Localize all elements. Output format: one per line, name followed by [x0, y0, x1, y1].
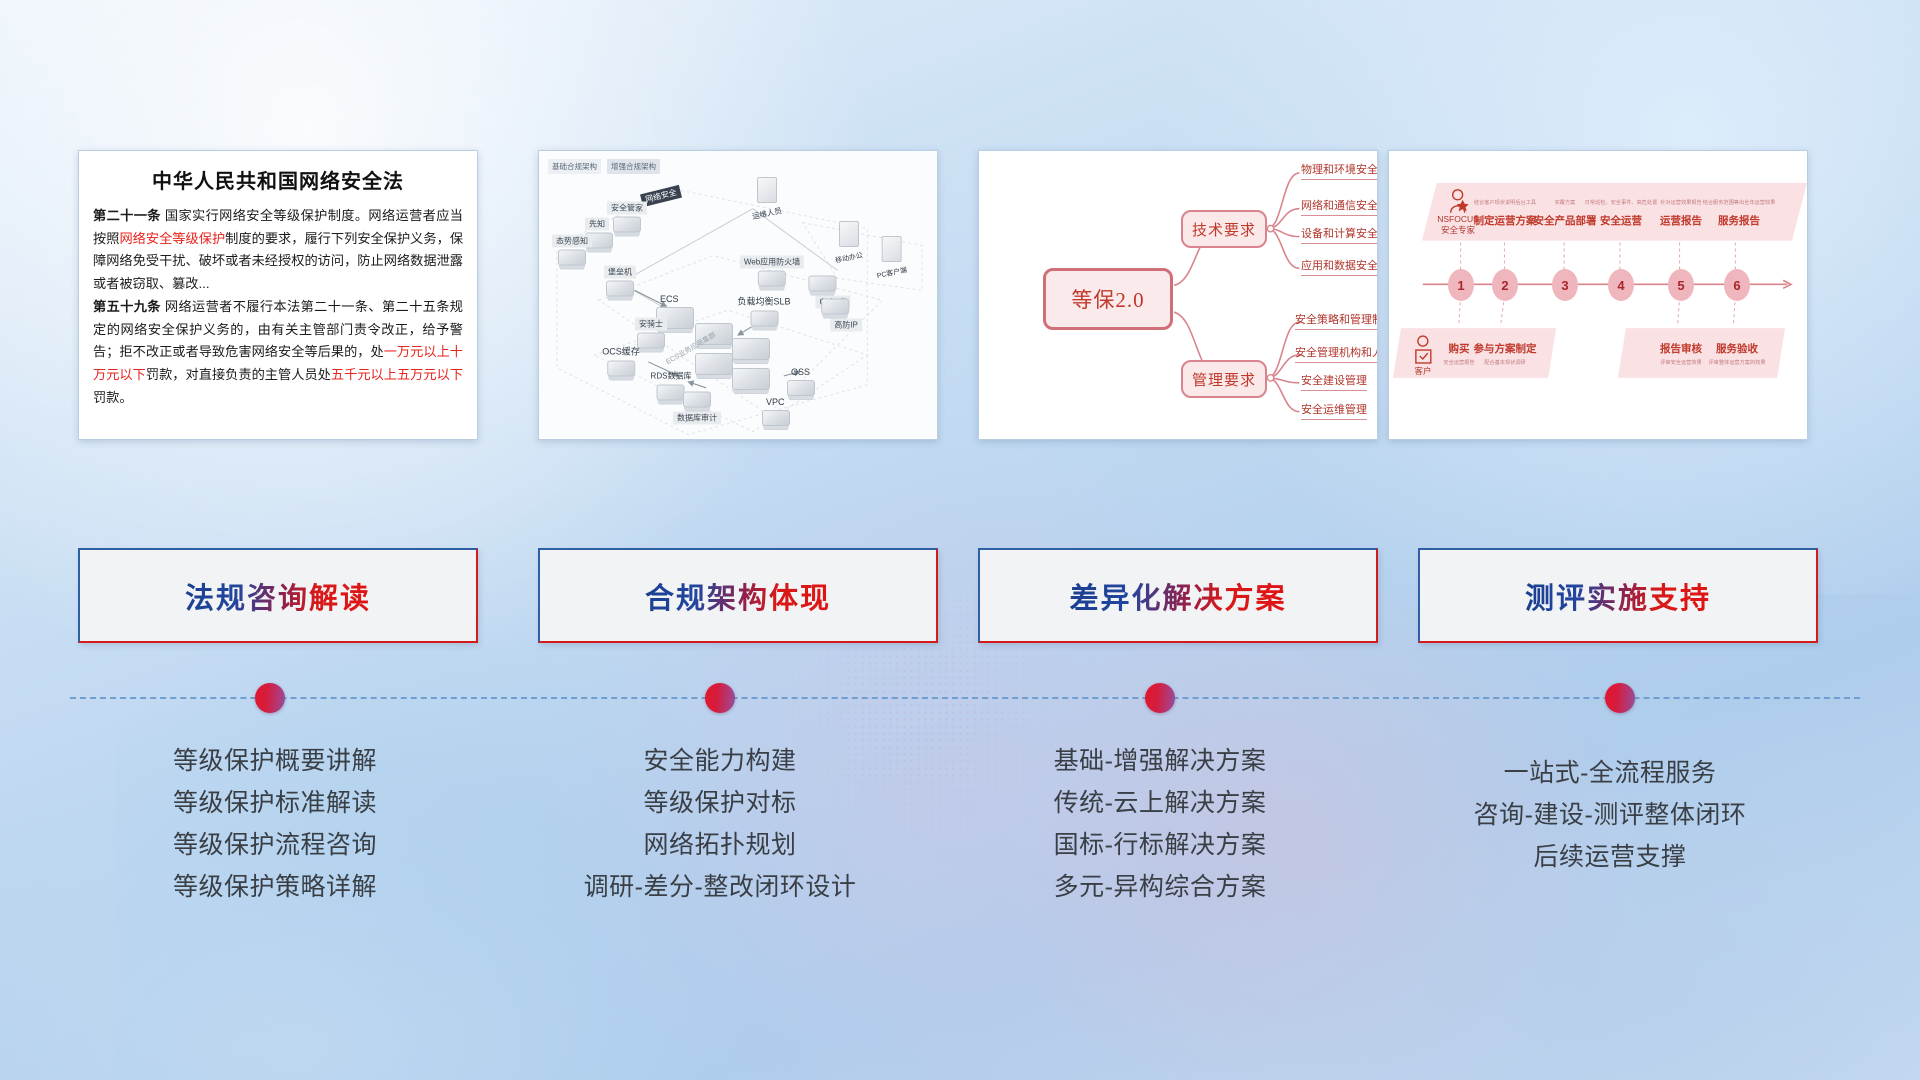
pillar-title-box-4[interactable]: 测评实施支持: [1418, 548, 1818, 643]
mindmap-leaf-ops-mgmt: 安全运维管理: [1301, 401, 1367, 420]
list-item: 等级保护策略详解: [65, 866, 485, 908]
arch-node-pc-client: PC客户端: [873, 236, 912, 280]
mindmap-connectors: [979, 151, 1377, 440]
list-item: 等级保护流程咨询: [65, 824, 485, 866]
nsfocus-step-dot-4: 4: [1608, 269, 1634, 301]
arch-node-anti-ddos-ip: 高防IP: [808, 299, 862, 334]
arch-node-oss: OSS: [787, 362, 815, 396]
arch-node-situational-awareness: 态势感知: [552, 231, 592, 266]
mindmap-leaf-network-comm: 网络和通信安全: [1301, 197, 1378, 216]
list-item: 网络拓扑规划: [510, 824, 930, 866]
list-item: 咨询-建设-测评整体闭环: [1400, 794, 1820, 836]
law-article-21: 第二十一条 国家实行网络安全等级保护制度。网络运营者应当按照网络安全等级保护制度…: [93, 205, 463, 296]
nsfocus-step-6-main: 服务报告: [1718, 213, 1760, 228]
nsfocus-step-dot-6: 6: [1724, 269, 1750, 301]
list-item: 等级保护标准解读: [65, 782, 485, 824]
nsfocus-step-6-sub: 结合服务范围等出全年运营效果: [1703, 199, 1776, 206]
nsfocus-step-5-main: 运营报告: [1660, 213, 1702, 228]
nsfocus-customer-1-main: 购买: [1449, 341, 1470, 356]
list-item: 传统-云上解决方案: [950, 782, 1370, 824]
arch-node-ecs-instance-c: [732, 338, 770, 360]
list-item: 多元-异构综合方案: [950, 866, 1370, 908]
arch-label-ecs-cluster: ECS业务应用集群: [659, 338, 723, 357]
list-item: 基础-增强解决方案: [950, 740, 1370, 782]
pillar-items-3: 基础-增强解决方案 传统-云上解决方案 国标-行标解决方案 多元-异构综合方案: [950, 740, 1370, 908]
arch-node-mobile-office: 移动办公: [831, 221, 867, 265]
nsfocus-step-dot-5: 5: [1668, 269, 1694, 301]
arch-node-network-security: 网络安全: [641, 186, 681, 205]
timeline-dot-2: [705, 683, 735, 713]
arch-node-ops-staff: 运维人员: [748, 177, 786, 221]
timeline-dot-1: [255, 683, 285, 713]
nsfocus-timeline: NSFOCUS 安全专家 客户 结合客户现状说明后台工具 制定运营方案 实覆方案…: [1389, 151, 1807, 439]
mindmap-leaf-construction-mgmt: 安全建设管理: [1301, 372, 1367, 391]
list-item: 调研-差分-整改闭环设计: [510, 866, 930, 908]
arch-node-security-butler: 安全管家: [607, 198, 647, 233]
pillar-title-3: 差异化解决方案: [1069, 575, 1286, 617]
law-title: 中华人民共和国网络安全法: [93, 165, 463, 194]
article-21-label: 第二十一条: [93, 208, 161, 223]
timeline-dashed-line: [70, 697, 1860, 699]
pillar-items-1: 等级保护概要讲解 等级保护标准解读 等级保护流程咨询 等级保护策略详解: [65, 740, 485, 908]
pillar-title-4: 测评实施支持: [1525, 575, 1711, 617]
article-59-highlight-2: 五千元以上五万元以下: [331, 367, 463, 382]
list-item: 等级保护对标: [510, 782, 930, 824]
law-article-59: 第五十九条 网络运营者不履行本法第二十一条、第二十五条规定的网络安全保护义务的，…: [93, 296, 463, 410]
pillar-title-box-3[interactable]: 差异化解决方案: [978, 548, 1378, 643]
card-row: 中华人民共和国网络安全法 第二十一条 国家实行网络安全等级保护制度。网络运营者应…: [0, 150, 1920, 446]
nsfocus-customer-1-sub: 安全运营报告: [1443, 359, 1474, 366]
nsfocus-step-3-sub: 实覆方案: [1555, 199, 1576, 206]
architecture-diagram: 基础合规架构 增强合规架构: [539, 151, 937, 439]
nsfocus-customer-2-sub: 配合基本现状调研: [1484, 359, 1526, 366]
article-59-text-3: 罚款。: [93, 390, 133, 405]
timeline-dot-3: [1145, 683, 1175, 713]
nsfocus-step-dot-1: 1: [1448, 269, 1474, 301]
arch-node-database-audit: 数据库审计: [673, 392, 721, 427]
nsfocus-customer-role: 客户: [1414, 365, 1431, 377]
pillar-items-2: 安全能力构建 等级保护对标 网络拓扑规划 调研-差分-整改闭环设计: [510, 740, 930, 908]
arch-node-slb: 负载均衡SLB: [733, 292, 794, 327]
card-nsfocus-timeline: NSFOCUS 安全专家 客户 结合客户现状说明后台工具 制定运营方案 实覆方案…: [1388, 150, 1808, 440]
article-59-label: 第五十九条: [93, 299, 161, 314]
nsfocus-customer-3-main: 报告审核: [1660, 341, 1702, 356]
mindmap-branch-management: 管理要求: [1181, 360, 1267, 398]
timeline-dot-4: [1605, 683, 1635, 713]
nsfocus-step-5-sub: 针对运营效果报告: [1660, 199, 1702, 206]
nsfocus-step-dot-3: 3: [1552, 269, 1578, 301]
nsfocus-step-2-main: 制定运营方案: [1474, 213, 1537, 228]
nsfocus-step-4-main: 安全运营: [1600, 213, 1642, 228]
nsfocus-step-4-sub: 日常巡检、安全事件、高危处置: [1585, 199, 1658, 206]
pillar-title-box-1[interactable]: 法规咨询解读: [78, 548, 478, 643]
pillar-items-4: 一站式-全流程服务 咨询-建设-测评整体闭环 后续运营支撑: [1400, 752, 1820, 878]
arch-node-ecs-instance-d: [732, 368, 770, 390]
arch-node-vpc: VPC: [762, 392, 790, 426]
nsfocus-customer-4-main: 服务验收: [1716, 341, 1758, 356]
pillar-title-1: 法规咨询解读: [185, 575, 371, 617]
article-59-text-2: 罚款，对直接负责的主管人员处: [146, 367, 331, 382]
list-item: 安全能力构建: [510, 740, 930, 782]
arch-node-bastion-host: 堡垒机: [604, 262, 636, 297]
mindmap-leaf-device-compute: 设备和计算安全: [1301, 225, 1378, 244]
card-compliance-architecture: 基础合规架构 增强合规架构: [538, 150, 938, 440]
card-mindmap-dengbao: 等保2.0 技术要求 管理要求 物理和环境安全 网络和通信安全 设备和计算安全 …: [978, 150, 1378, 440]
mindmap-root: 等保2.0: [1043, 268, 1173, 330]
mindmap-leaf-app-data: 应用和数据安全: [1301, 257, 1378, 276]
pillar-title-row: 法规咨询解读 合规架构体现 差异化解决方案 测评实施支持: [0, 548, 1920, 648]
mindmap-branch-technical: 技术要求: [1181, 210, 1267, 248]
nsfocus-customer-2-main: 参与方案制定: [1474, 341, 1537, 356]
nsfocus-step-2-sub: 结合客户现状说明后台工具: [1474, 199, 1536, 206]
card-cybersecurity-law: 中华人民共和国网络安全法 第二十一条 国家实行网络安全等级保护制度。网络运营者应…: [78, 150, 478, 440]
law-text-block: 中华人民共和国网络安全法 第二十一条 国家实行网络安全等级保护制度。网络运营者应…: [79, 151, 477, 417]
mindmap: 等保2.0 技术要求 管理要求 物理和环境安全 网络和通信安全 设备和计算安全 …: [979, 151, 1377, 439]
nsfocus-step-3-main: 安全产品部署: [1534, 213, 1597, 228]
nsfocus-step-dot-2: 2: [1492, 269, 1518, 301]
nsfocus-customer-4-sub: 评审整体运营方案的效果: [1708, 359, 1765, 366]
mindmap-leaf-physical-env: 物理和环境安全: [1301, 161, 1378, 180]
mindmap-leaf-policy-system: 安全策略和管理制度: [1295, 311, 1378, 330]
article-21-highlight: 网络安全等级保护: [119, 231, 225, 246]
list-item: 国标-行标解决方案: [950, 824, 1370, 866]
nsfocus-customer-3-sub: 评审安全运营效果: [1660, 359, 1702, 366]
list-item: 后续运营支撑: [1400, 836, 1820, 878]
arch-node-ocs-cache: OCS缓存: [598, 342, 644, 377]
list-item: 等级保护概要讲解: [65, 740, 485, 782]
pillar-title-2: 合规架构体现: [645, 575, 831, 617]
list-item: 一站式-全流程服务: [1400, 752, 1820, 794]
mindmap-leaf-org-personnel: 安全管理机构和人员: [1295, 344, 1378, 363]
pillar-title-box-2[interactable]: 合规架构体现: [538, 548, 938, 643]
